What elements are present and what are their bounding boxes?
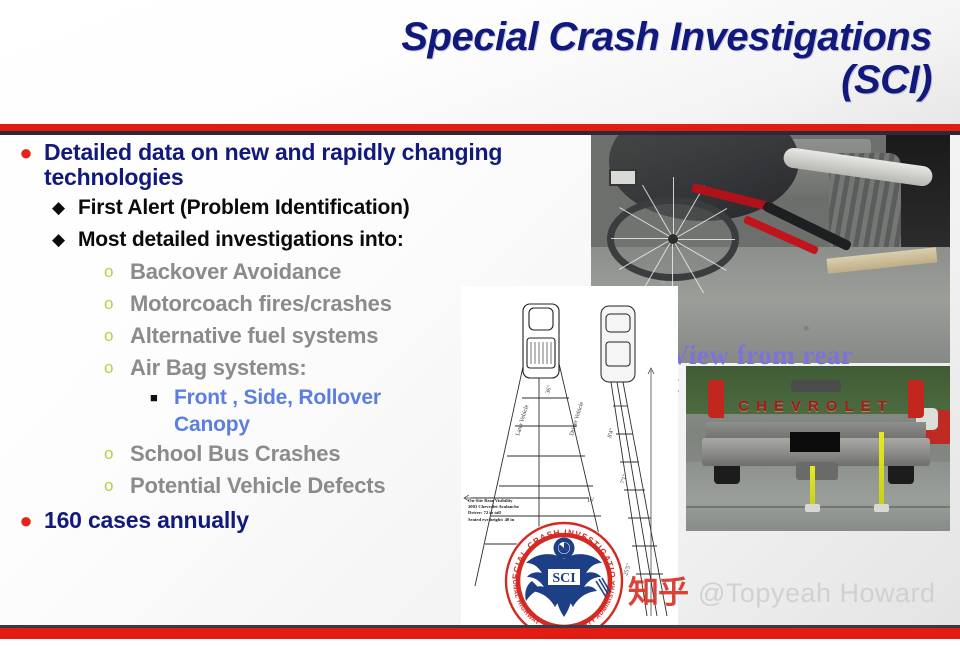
circle-bullet-icon: o: [104, 288, 130, 320]
circle-bullet-icon: o: [104, 256, 130, 288]
tail-lamp-left: [708, 380, 724, 418]
circle-bullet-icon: o: [104, 352, 130, 384]
bullet-level4-label: Front , Side, Rollover Canopy: [174, 384, 424, 438]
circle-bullet-icon: o: [104, 438, 130, 470]
watermark-handle: @Topyeah Howard: [698, 580, 936, 607]
round-bullet-icon: ●: [8, 140, 44, 166]
bullet-level2-item: ◆ First Alert (Problem Identification): [0, 192, 600, 223]
square-bullet-icon: ■: [150, 384, 174, 412]
measuring-pole-far: [879, 432, 884, 508]
footer-base: [0, 639, 960, 646]
bicycle-pedal-shape: [609, 169, 637, 186]
page-title: Special Crash Investigations (SCI): [232, 16, 932, 102]
slide-header: Special Crash Investigations (SCI): [0, 0, 960, 124]
seal-center-text: SCI: [552, 571, 575, 586]
bullet-level3-label: Alternative fuel systems: [130, 320, 378, 352]
diamond-bullet-icon: ◆: [52, 224, 78, 255]
round-bullet-icon: ●: [8, 508, 44, 534]
bullet-level2-label: Most detailed investigations into:: [78, 224, 404, 255]
bicycle-wheel-shape: [607, 197, 739, 281]
title-line-2: (SCI): [841, 58, 932, 102]
slide-canvas: Special Crash Investigations (SCI) ● Det…: [0, 0, 960, 646]
tailgate-panel: CHEVROLET: [708, 374, 924, 424]
diamond-bullet-icon: ◆: [52, 192, 78, 223]
chevrolet-badge: CHEVROLET: [708, 398, 924, 415]
title-line-1: Special Crash Investigations: [401, 15, 932, 59]
photo-red-chevrolet-rear: CHEVROLET: [686, 366, 950, 531]
bullet-level3-label: School Bus Crashes: [130, 438, 340, 470]
footer-red-rule: [0, 628, 960, 639]
license-plate-blackout: [790, 432, 840, 452]
bullet-level3-label: Backover Avoidance: [130, 256, 341, 288]
bullet-level1-label: 160 cases annually: [44, 508, 249, 533]
zhihu-logo-icon: 知乎: [628, 578, 688, 609]
header-red-rule: [0, 124, 960, 131]
bullet-level3-label: Motorcoach fires/crashes: [130, 288, 392, 320]
pole-base-near: [805, 504, 820, 512]
circle-bullet-icon: o: [104, 470, 130, 502]
bullet-level1-label: Detailed data on new and rapidly changin…: [44, 140, 600, 190]
bullet-level1-item: ● Detailed data on new and rapidly chang…: [0, 140, 600, 190]
bullet-level3-label: Air Bag systems:: [130, 352, 307, 384]
circle-bullet-icon: o: [104, 320, 130, 352]
bullet-level2-label: First Alert (Problem Identification): [78, 192, 410, 223]
svg-text:16': 16': [587, 498, 594, 504]
watermark: 知乎 @Topyeah Howard: [628, 578, 936, 609]
bullet-level3-item: o Backover Avoidance: [0, 256, 600, 288]
trailer-hitch: [796, 462, 838, 480]
measuring-pole-near: [810, 466, 815, 508]
pole-base-far: [874, 504, 889, 512]
bullet-level3-label: Potential Vehicle Defects: [130, 470, 385, 502]
tailgate-handle: [791, 380, 841, 392]
bullet-level2-item: ◆ Most detailed investigations into:: [0, 224, 600, 255]
tail-lamp-right: [908, 380, 924, 418]
